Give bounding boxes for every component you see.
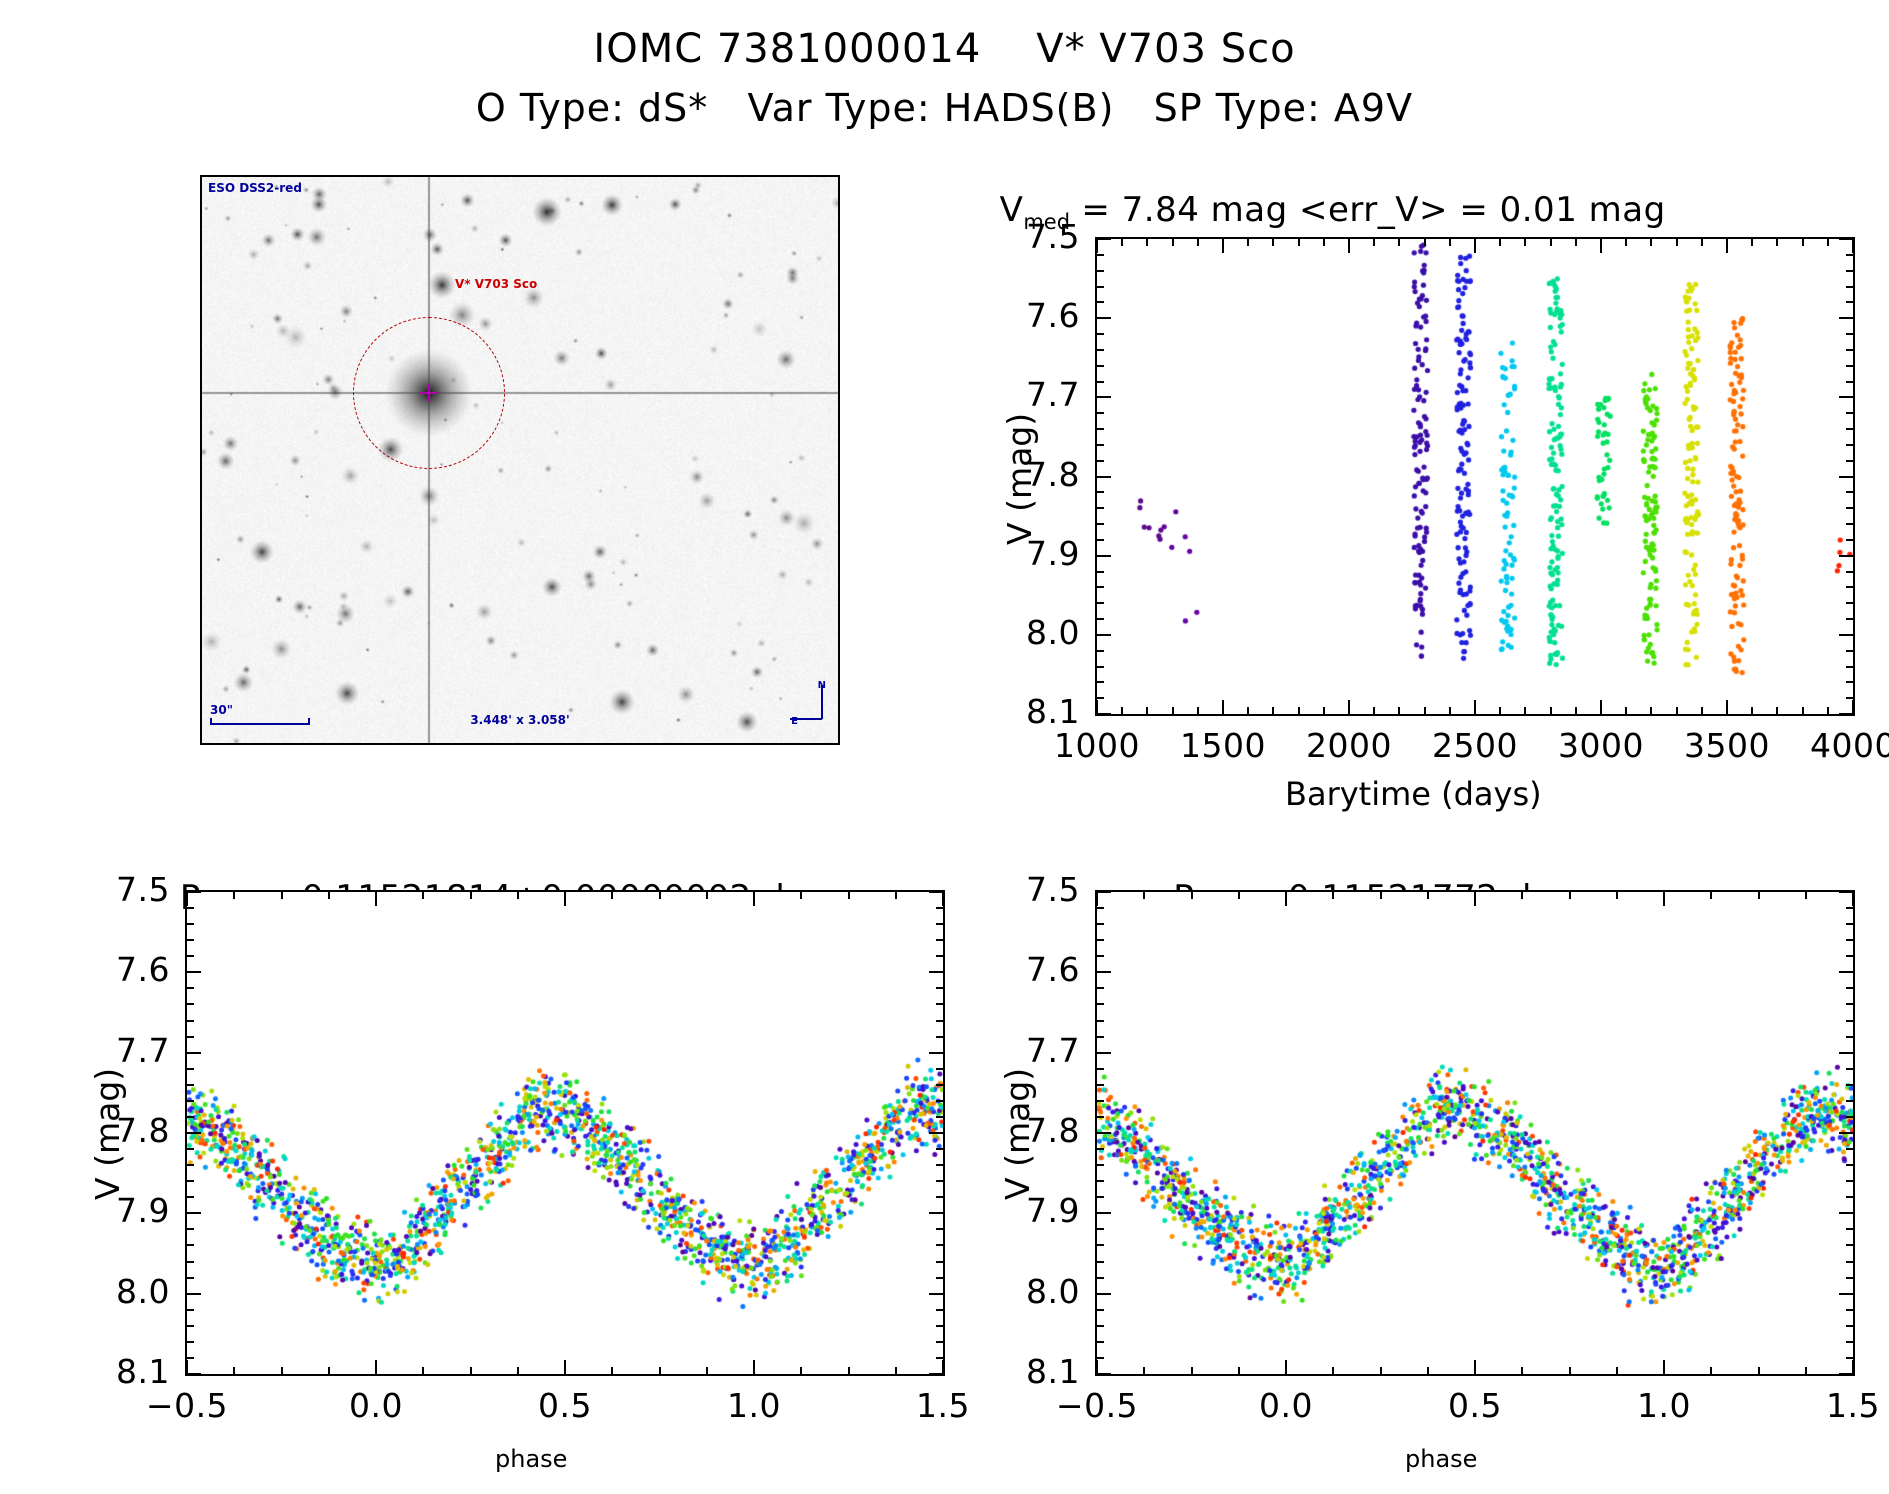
x-tick-label: 3500 — [1667, 726, 1787, 765]
y-minor-tick-right — [1846, 539, 1853, 541]
x-minor-tick — [233, 1367, 235, 1374]
x-major-tick-top — [564, 892, 566, 906]
x-minor-tick — [1424, 707, 1426, 714]
y-major-tick — [1097, 317, 1111, 319]
x-minor-tick — [517, 1367, 519, 1374]
y-major-tick — [1097, 891, 1111, 893]
y-minor-tick — [1097, 444, 1104, 446]
lightcurve-y-axis-label: V (mag) — [1000, 413, 1039, 545]
x-minor-tick — [1121, 707, 1123, 714]
x-major-tick-top — [1474, 239, 1476, 253]
x-minor-tick — [422, 1367, 424, 1374]
x-major-tick — [1222, 700, 1224, 714]
y-minor-tick — [1097, 602, 1104, 604]
centroid-marker-vertical — [428, 384, 430, 402]
y-minor-tick-right — [1846, 491, 1853, 493]
y-major-tick — [187, 1212, 201, 1214]
x-major-tick-top — [1852, 892, 1854, 906]
y-minor-tick — [187, 939, 194, 941]
phase-omc-plot-frame — [185, 890, 945, 1376]
y-minor-tick-right — [936, 1116, 943, 1118]
y-minor-tick — [1097, 270, 1104, 272]
y-minor-tick-right — [1846, 365, 1853, 367]
y-major-tick-right — [1839, 634, 1853, 636]
x-tick-label: 1500 — [1163, 726, 1283, 765]
x-minor-tick-top — [1247, 239, 1249, 246]
dss-sky-canvas — [202, 177, 838, 743]
y-minor-tick — [1097, 923, 1104, 925]
x-tick-label: 0.5 — [1415, 1386, 1535, 1425]
y-minor-tick-right — [1846, 349, 1853, 351]
y-tick-label: 8.1 — [960, 1352, 1080, 1391]
y-minor-tick-right — [936, 1180, 943, 1182]
y-minor-tick — [1097, 907, 1104, 909]
x-minor-tick-top — [1323, 239, 1325, 246]
y-minor-tick-right — [936, 1100, 943, 1102]
x-major-tick — [564, 1360, 566, 1374]
x-minor-tick-top — [1146, 239, 1148, 246]
x-major-tick-top — [1096, 239, 1098, 253]
x-major-tick — [375, 1360, 377, 1374]
y-major-tick-right — [929, 1293, 943, 1295]
y-minor-tick — [1097, 381, 1104, 383]
x-minor-tick-top — [233, 892, 235, 899]
x-minor-tick — [281, 1367, 283, 1374]
x-tick-label: 1000 — [1037, 726, 1157, 765]
compass-icon — [786, 679, 828, 725]
y-minor-tick — [187, 1100, 194, 1102]
y-major-tick-right — [929, 1132, 943, 1134]
y-minor-tick-right — [1846, 1228, 1853, 1230]
x-minor-tick — [1373, 707, 1375, 714]
x-minor-tick-top — [1449, 239, 1451, 246]
y-tick-label: 8.1 — [50, 1352, 170, 1391]
y-tick-label: 7.6 — [50, 950, 170, 989]
y-minor-tick-right — [936, 1068, 943, 1070]
x-minor-tick — [1247, 707, 1249, 714]
y-minor-tick-right — [936, 1357, 943, 1359]
y-minor-tick — [187, 1116, 194, 1118]
x-major-tick-top — [1600, 239, 1602, 253]
y-minor-tick — [1097, 1084, 1104, 1086]
x-minor-tick-top — [1298, 239, 1300, 246]
y-major-tick-right — [1839, 476, 1853, 478]
lightcurve-plot-frame — [1095, 237, 1855, 716]
y-tick-label: 8.0 — [960, 1272, 1080, 1311]
y-minor-tick — [1097, 254, 1104, 256]
y-minor-tick-right — [1846, 1261, 1853, 1263]
x-minor-tick — [1827, 707, 1829, 714]
y-minor-tick — [1097, 412, 1104, 414]
x-tick-label: 4000 — [1793, 726, 1889, 765]
y-minor-tick — [1097, 349, 1104, 351]
y-minor-tick — [1097, 1341, 1104, 1343]
y-minor-tick — [1097, 1261, 1104, 1263]
x-tick-label: 2500 — [1415, 726, 1535, 765]
y-major-tick-right — [1839, 1212, 1853, 1214]
x-tick-label: 0.0 — [316, 1386, 436, 1425]
x-minor-tick-top — [1238, 892, 1240, 899]
x-minor-tick-top — [1569, 892, 1571, 899]
y-minor-tick-right — [1846, 333, 1853, 335]
y-minor-tick — [187, 1068, 194, 1070]
y-major-tick — [1097, 1132, 1111, 1134]
y-minor-tick-right — [1846, 381, 1853, 383]
y-minor-tick — [1097, 571, 1104, 573]
x-minor-tick — [1521, 1367, 1523, 1374]
y-minor-tick-right — [1846, 1100, 1853, 1102]
y-major-tick — [1097, 1293, 1111, 1295]
y-minor-tick — [1097, 939, 1104, 941]
x-minor-tick — [1710, 1367, 1712, 1374]
y-major-tick — [187, 1373, 201, 1375]
x-minor-tick-top — [1751, 239, 1753, 246]
y-minor-tick-right — [936, 1261, 943, 1263]
y-minor-tick — [187, 1341, 194, 1343]
phase-vsx-points-canvas — [1097, 892, 1853, 1374]
y-minor-tick-right — [1846, 1180, 1853, 1182]
x-major-tick — [1852, 700, 1854, 714]
y-minor-tick-right — [1846, 412, 1853, 414]
y-minor-tick — [1097, 1148, 1104, 1150]
x-minor-tick — [1805, 1367, 1807, 1374]
y-minor-tick-right — [1846, 1164, 1853, 1166]
x-minor-tick — [1776, 707, 1778, 714]
y-minor-tick-right — [1846, 650, 1853, 652]
y-minor-tick-right — [1846, 666, 1853, 668]
x-minor-tick-top — [1616, 892, 1618, 899]
y-minor-tick — [1097, 987, 1104, 989]
x-tick-label: 0.5 — [505, 1386, 625, 1425]
y-minor-tick — [1097, 1228, 1104, 1230]
x-tick-label: 3000 — [1541, 726, 1661, 765]
x-minor-tick — [1449, 707, 1451, 714]
y-minor-tick — [187, 1180, 194, 1182]
y-minor-tick — [187, 1357, 194, 1359]
y-major-tick-right — [929, 1373, 943, 1375]
x-major-tick — [1096, 700, 1098, 714]
y-minor-tick-right — [1846, 1003, 1853, 1005]
phase-omc-points-canvas — [187, 892, 943, 1374]
x-major-tick — [1285, 1360, 1287, 1374]
y-major-tick — [1097, 238, 1111, 240]
y-minor-tick-right — [936, 1325, 943, 1327]
y-minor-tick-right — [936, 1164, 943, 1166]
y-minor-tick-right — [1846, 987, 1853, 989]
y-minor-tick-right — [1846, 1277, 1853, 1279]
x-minor-tick-top — [1380, 892, 1382, 899]
x-minor-tick-top — [1625, 239, 1627, 246]
y-minor-tick-right — [1846, 697, 1853, 699]
x-major-tick — [1474, 700, 1476, 714]
y-minor-tick — [1097, 333, 1104, 335]
y-minor-tick-right — [936, 1148, 943, 1150]
y-minor-tick — [1097, 697, 1104, 699]
y-minor-tick — [187, 1036, 194, 1038]
y-minor-tick-right — [1846, 681, 1853, 683]
y-minor-tick — [187, 1309, 194, 1311]
y-major-tick-right — [1839, 1373, 1853, 1375]
y-minor-tick — [1097, 301, 1104, 303]
y-major-tick-right — [1839, 1132, 1853, 1134]
y-minor-tick-right — [1846, 1196, 1853, 1198]
y-major-tick — [1097, 634, 1111, 636]
y-minor-tick — [187, 1084, 194, 1086]
y-minor-tick — [1097, 1003, 1104, 1005]
x-minor-tick-top — [659, 892, 661, 899]
y-minor-tick-right — [1846, 955, 1853, 957]
x-minor-tick — [848, 1367, 850, 1374]
y-major-tick — [187, 971, 201, 973]
dss-field-of-view-label: 3.448' x 3.058' — [470, 713, 569, 727]
y-minor-tick — [1097, 666, 1104, 668]
y-minor-tick-right — [936, 923, 943, 925]
x-minor-tick-top — [1550, 239, 1552, 246]
x-major-tick-top — [1285, 892, 1287, 906]
y-minor-tick — [1097, 1036, 1104, 1038]
y-minor-tick — [1097, 955, 1104, 957]
y-minor-tick-right — [936, 1228, 943, 1230]
y-minor-tick — [1097, 507, 1104, 509]
y-minor-tick — [1097, 428, 1104, 430]
x-minor-tick — [1550, 707, 1552, 714]
dss-survey-label: ESO DSS2-red — [208, 181, 302, 195]
y-minor-tick-right — [936, 1341, 943, 1343]
y-minor-tick — [1097, 1180, 1104, 1182]
y-minor-tick — [1097, 618, 1104, 620]
y-minor-tick — [1097, 1068, 1104, 1070]
x-minor-tick-top — [1197, 239, 1199, 246]
x-minor-tick-top — [1272, 239, 1274, 246]
y-minor-tick — [1097, 539, 1104, 541]
y-major-tick — [187, 1052, 201, 1054]
phase-vsx-x-axis-label: phase — [1405, 1445, 1477, 1473]
x-minor-tick-top — [1332, 892, 1334, 899]
y-minor-tick — [187, 1164, 194, 1166]
x-major-tick-top — [1474, 892, 1476, 906]
x-major-tick-top — [375, 892, 377, 906]
x-minor-tick-top — [848, 892, 850, 899]
y-minor-tick — [187, 1261, 194, 1263]
x-minor-tick — [470, 1367, 472, 1374]
dss-sky-image-panel: ESO DSS2-red V* V703 Sco 30" 3.448' x 3.… — [200, 175, 840, 745]
x-major-tick — [1474, 1360, 1476, 1374]
y-minor-tick — [1097, 523, 1104, 525]
x-major-tick-top — [1222, 239, 1224, 253]
x-major-tick-top — [1726, 239, 1728, 253]
x-minor-tick-top — [706, 892, 708, 899]
y-minor-tick — [1097, 365, 1104, 367]
x-minor-tick-top — [1802, 239, 1804, 246]
x-tick-label: 0.0 — [1226, 1386, 1346, 1425]
y-minor-tick — [1097, 1309, 1104, 1311]
y-minor-tick-right — [1846, 1148, 1853, 1150]
x-minor-tick — [1625, 707, 1627, 714]
y-minor-tick-right — [1846, 907, 1853, 909]
x-minor-tick-top — [1827, 239, 1829, 246]
x-major-tick-top — [753, 892, 755, 906]
y-minor-tick-right — [1846, 571, 1853, 573]
y-minor-tick — [1097, 286, 1104, 288]
x-minor-tick-top — [1398, 239, 1400, 246]
x-minor-tick-top — [1191, 892, 1193, 899]
x-minor-tick — [1146, 707, 1148, 714]
x-minor-tick-top — [470, 892, 472, 899]
x-minor-tick — [1143, 1367, 1145, 1374]
dss-target-name-label: V* V703 Sco — [455, 277, 537, 291]
x-minor-tick — [1524, 707, 1526, 714]
y-major-tick-right — [929, 1212, 943, 1214]
y-major-tick-right — [929, 1052, 943, 1054]
y-major-tick — [1097, 555, 1111, 557]
x-minor-tick-top — [1676, 239, 1678, 246]
x-minor-tick — [1172, 707, 1174, 714]
x-minor-tick — [1272, 707, 1274, 714]
y-minor-tick-right — [936, 987, 943, 989]
x-minor-tick — [1323, 707, 1325, 714]
y-major-tick — [1097, 971, 1111, 973]
y-major-tick-right — [1839, 1052, 1853, 1054]
y-tick-label: 7.7 — [960, 375, 1080, 414]
y-minor-tick — [187, 1228, 194, 1230]
x-major-tick-top — [1852, 239, 1854, 253]
x-minor-tick-top — [1172, 239, 1174, 246]
y-minor-tick-right — [936, 1036, 943, 1038]
y-minor-tick-right — [936, 1020, 943, 1022]
y-minor-tick-right — [1846, 1068, 1853, 1070]
y-minor-tick-right — [1846, 301, 1853, 303]
x-major-tick — [942, 1360, 944, 1374]
y-minor-tick-right — [1846, 270, 1853, 272]
y-minor-tick — [1097, 1196, 1104, 1198]
y-tick-label: 7.6 — [960, 950, 1080, 989]
x-minor-tick — [1298, 707, 1300, 714]
y-minor-tick-right — [1846, 1244, 1853, 1246]
page-title-line1: IOMC 7381000014 V* V703 Sco — [0, 26, 1889, 72]
x-minor-tick — [1332, 1367, 1334, 1374]
y-major-tick — [1097, 1373, 1111, 1375]
y-minor-tick-right — [1846, 523, 1853, 525]
x-minor-tick — [1751, 707, 1753, 714]
x-minor-tick-top — [1521, 892, 1523, 899]
y-tick-label: 7.5 — [960, 217, 1080, 256]
x-minor-tick — [328, 1367, 330, 1374]
y-major-tick — [1097, 396, 1111, 398]
x-minor-tick-top — [422, 892, 424, 899]
y-minor-tick — [1097, 1325, 1104, 1327]
x-minor-tick-top — [1575, 239, 1577, 246]
y-minor-tick-right — [936, 955, 943, 957]
x-minor-tick-top — [1499, 239, 1501, 246]
y-major-tick-right — [1839, 713, 1853, 715]
lc-title-rest: = 7.84 mag <err_V> = 0.01 mag — [1070, 190, 1666, 230]
y-tick-label: 7.7 — [50, 1031, 170, 1070]
y-minor-tick-right — [936, 1309, 943, 1311]
phase-omc-x-axis-label: phase — [495, 1445, 567, 1473]
x-major-tick — [1096, 1360, 1098, 1374]
lightcurve-x-axis-label: Barytime (days) — [1285, 775, 1542, 813]
y-minor-tick-right — [936, 1003, 943, 1005]
x-minor-tick — [1802, 707, 1804, 714]
x-major-tick — [1600, 700, 1602, 714]
y-tick-label: 7.6 — [960, 296, 1080, 335]
x-minor-tick-top — [1776, 239, 1778, 246]
y-minor-tick-right — [1846, 618, 1853, 620]
y-minor-tick — [1097, 1100, 1104, 1102]
x-minor-tick-top — [1650, 239, 1652, 246]
x-major-tick — [186, 1360, 188, 1374]
x-minor-tick-top — [1758, 892, 1760, 899]
x-minor-tick-top — [1524, 239, 1526, 246]
x-minor-tick — [611, 1367, 613, 1374]
y-minor-tick-right — [1846, 460, 1853, 462]
y-major-tick-right — [1839, 971, 1853, 973]
y-tick-label: 8.0 — [50, 1272, 170, 1311]
y-minor-tick-right — [1846, 428, 1853, 430]
page-title-line2: O Type: dS* Var Type: HADS(B) SP Type: A… — [0, 86, 1889, 130]
y-major-tick — [1097, 1212, 1111, 1214]
y-minor-tick-right — [1846, 939, 1853, 941]
x-minor-tick — [1575, 707, 1577, 714]
x-major-tick-top — [1663, 892, 1665, 906]
y-major-tick — [187, 891, 201, 893]
x-tick-label: 1.5 — [1793, 1386, 1889, 1425]
y-tick-label: 8.0 — [960, 613, 1080, 652]
y-minor-tick — [187, 1148, 194, 1150]
y-minor-tick-right — [1846, 444, 1853, 446]
phase-omc-y-axis-label: V (mag) — [88, 1068, 127, 1200]
y-minor-tick — [1097, 491, 1104, 493]
x-minor-tick — [1191, 1367, 1193, 1374]
x-major-tick — [753, 1360, 755, 1374]
y-major-tick — [187, 1293, 201, 1295]
y-minor-tick — [1097, 1357, 1104, 1359]
y-major-tick-right — [929, 891, 943, 893]
x-minor-tick-top — [1143, 892, 1145, 899]
x-major-tick-top — [942, 892, 944, 906]
y-minor-tick-right — [1846, 1325, 1853, 1327]
y-tick-label: 7.7 — [960, 1031, 1080, 1070]
x-tick-label: 2000 — [1289, 726, 1409, 765]
x-minor-tick — [1616, 1367, 1618, 1374]
y-minor-tick-right — [1846, 507, 1853, 509]
y-tick-label: 7.5 — [50, 870, 170, 909]
y-minor-tick — [1097, 1277, 1104, 1279]
x-major-tick — [1726, 700, 1728, 714]
y-minor-tick — [187, 1003, 194, 1005]
y-minor-tick — [1097, 586, 1104, 588]
y-minor-tick — [187, 955, 194, 957]
x-minor-tick — [1398, 707, 1400, 714]
y-tick-label: 7.5 — [960, 870, 1080, 909]
x-minor-tick — [895, 1367, 897, 1374]
x-minor-tick-top — [800, 892, 802, 899]
y-major-tick-right — [1839, 555, 1853, 557]
x-minor-tick-top — [281, 892, 283, 899]
x-tick-label: 1.5 — [883, 1386, 1003, 1425]
x-minor-tick-top — [328, 892, 330, 899]
x-minor-tick — [1197, 707, 1199, 714]
x-major-tick — [1663, 1360, 1665, 1374]
y-minor-tick-right — [1846, 1341, 1853, 1343]
x-minor-tick-top — [895, 892, 897, 899]
phase-vsx-plot-frame — [1095, 890, 1855, 1376]
x-minor-tick — [1569, 1367, 1571, 1374]
y-tick-label: 8.1 — [960, 692, 1080, 731]
x-minor-tick-top — [1701, 239, 1703, 246]
y-minor-tick-right — [936, 1084, 943, 1086]
y-minor-tick — [1097, 1116, 1104, 1118]
